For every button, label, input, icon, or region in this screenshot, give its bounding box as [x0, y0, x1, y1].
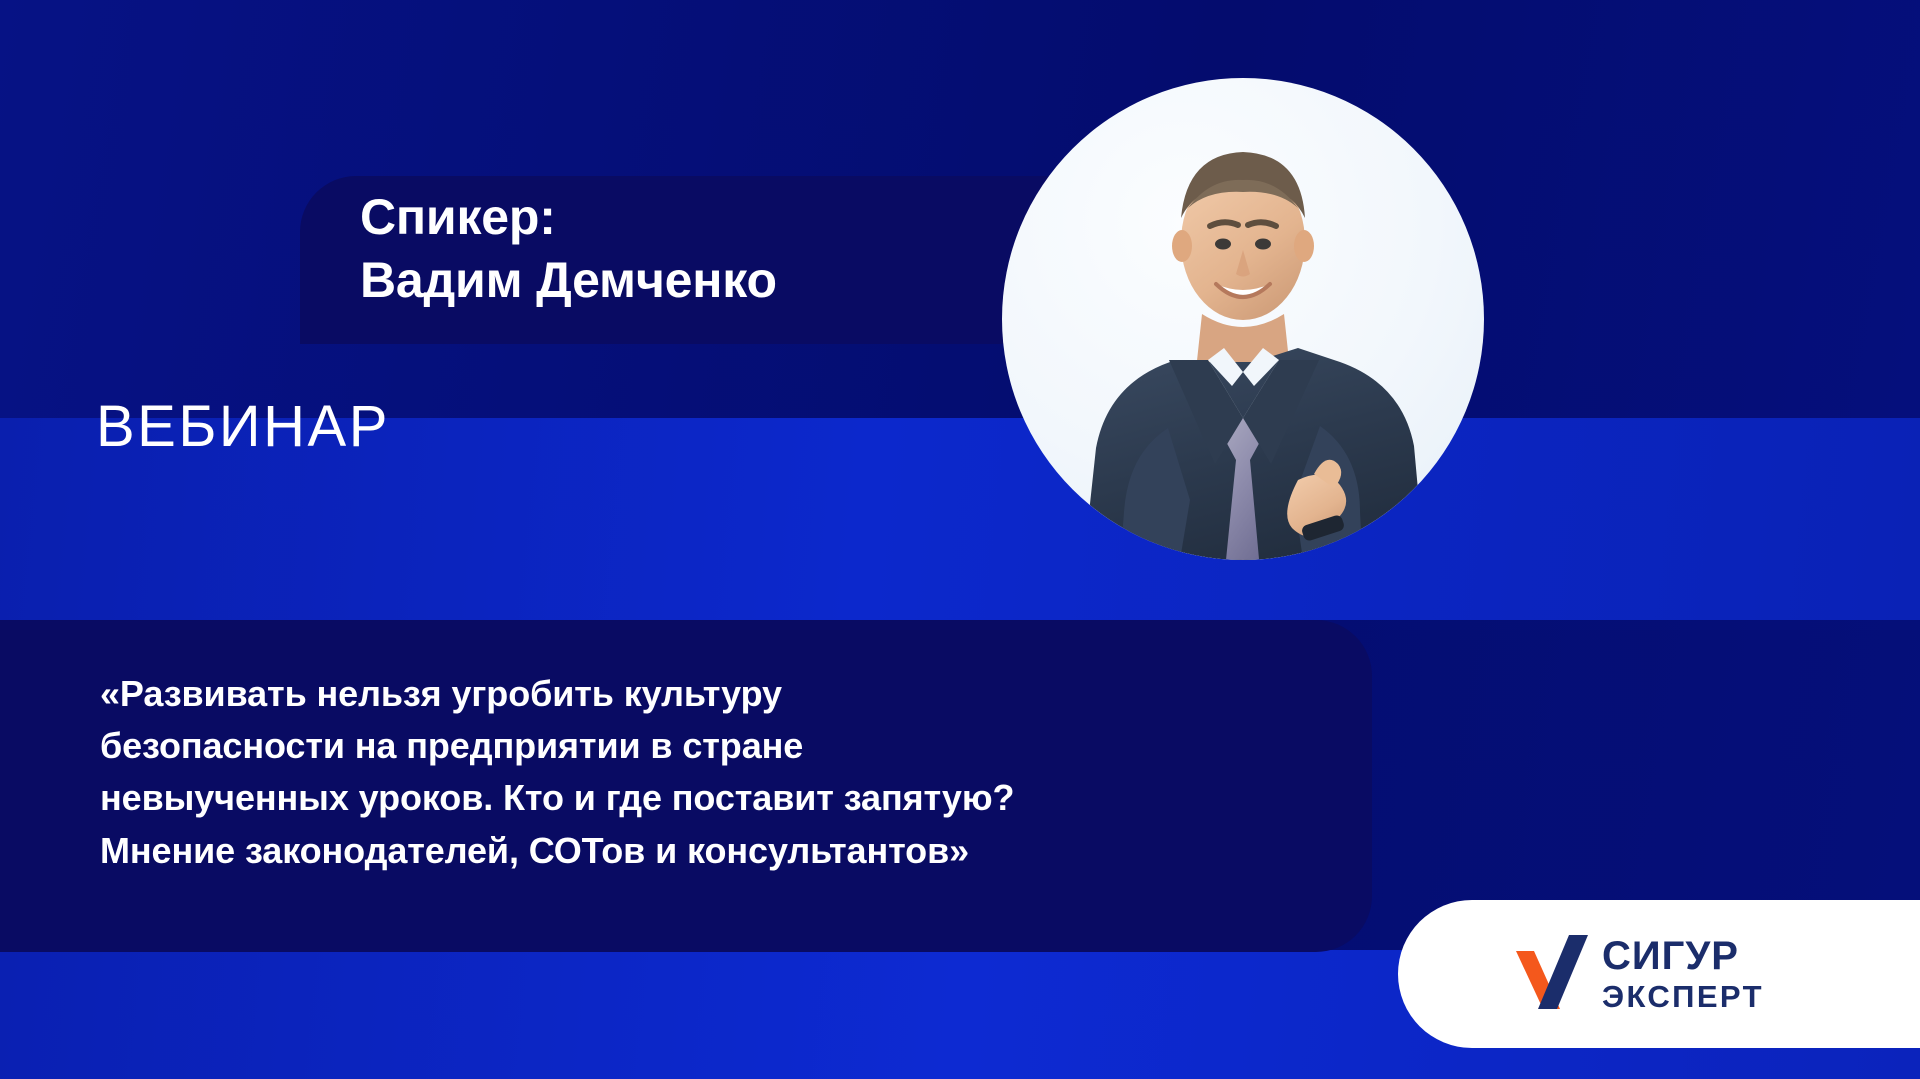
- banner-stage: Спикер: Вадим Демченко ВЕБИНАР «Развиват…: [0, 0, 1920, 1079]
- speaker-photo: [1002, 78, 1484, 560]
- speaker-block: Спикер: Вадим Демченко: [360, 186, 1120, 312]
- logo-wrap: СИГУР ЭКСПЕРТ: [1516, 935, 1764, 1014]
- quote-line-3: невыученных уроков. Кто и где поставит з…: [100, 772, 1100, 824]
- quote-line-2: безопасности на предприятии в стране: [100, 720, 1100, 772]
- brand-logo-badge[interactable]: СИГУР ЭКСПЕРТ: [1398, 900, 1920, 1048]
- quote-line-1: «Развивать нельзя угробить культуру: [100, 668, 1100, 720]
- logo-tagline: ЭКСПЕРТ: [1602, 981, 1764, 1012]
- speaker-name: Вадим Демченко: [360, 249, 1120, 312]
- quote-line-4: Мнение законодателей, СОТов и консультан…: [100, 825, 1100, 877]
- v-mark-icon: [1516, 935, 1588, 1014]
- logo-wordmark: СИГУР ЭКСПЕРТ: [1602, 936, 1764, 1012]
- event-type-label: ВЕБИНАР: [96, 398, 390, 456]
- quote-block: «Развивать нельзя угробить культуру безо…: [100, 668, 1100, 877]
- speaker-label: Спикер:: [360, 186, 1120, 249]
- logo-brand-name: СИГУР: [1602, 936, 1764, 976]
